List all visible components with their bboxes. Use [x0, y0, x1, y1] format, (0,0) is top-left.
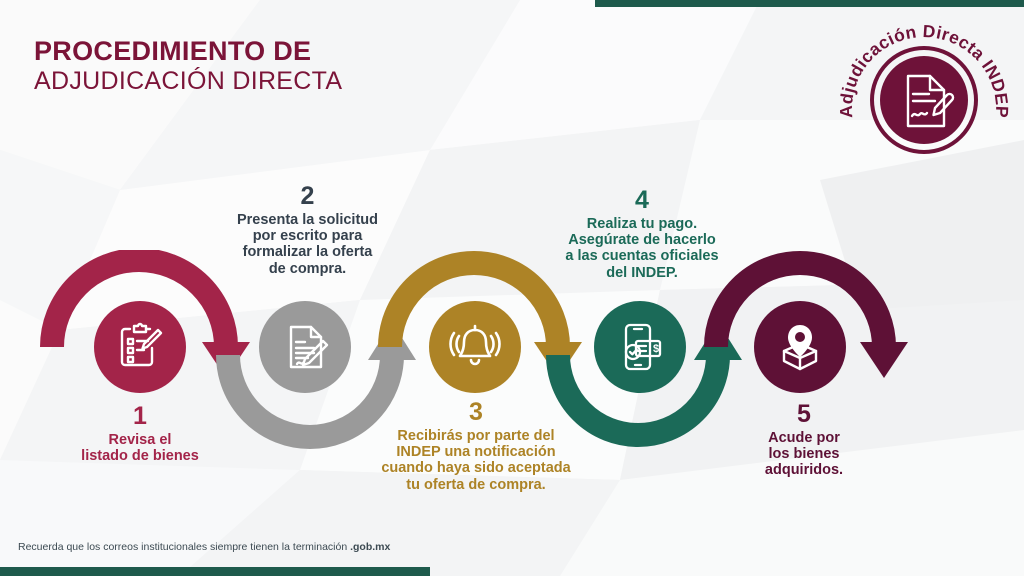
step-5-number: 5 [700, 400, 908, 428]
page-title: PROCEDIMIENTO DE ADJUDICACIÓN DIRECTA [34, 38, 342, 94]
step-1-number: 1 [40, 402, 240, 430]
title-line-secondary: ADJUDICACIÓN DIRECTA [34, 69, 342, 94]
step-3-caption: 3 Recibirás por parte del INDEP una noti… [340, 398, 612, 493]
title-line-primary: PROCEDIMIENTO DE [34, 38, 342, 65]
step-2-icon-circle[interactable] [259, 301, 351, 393]
infographic-canvas: PROCEDIMIENTO DE ADJUDICACIÓN DIRECTA Ad… [0, 0, 1024, 576]
step-3-icon-circle[interactable] [429, 301, 521, 393]
step-2-number: 2 [195, 182, 420, 210]
footer-note-text: Recuerda que los correos institucionales… [18, 541, 350, 553]
step-3-number: 3 [340, 398, 612, 426]
step-4-caption: 4 Realiza tu pago. Asegúrate de hacerlo … [522, 186, 762, 281]
clipboard-checklist-pencil-icon [114, 321, 166, 373]
step-5-text: Acude por los bienes adquiridos. [700, 430, 908, 479]
adjudicacion-directa-indep-badge: Adjudicación Directa INDEP [838, 22, 1010, 172]
mobile-payment-icon: $ [614, 321, 666, 373]
top-accent-bar [595, 0, 1024, 7]
step-5-icon-circle[interactable] [754, 301, 846, 393]
step-2-caption: 2 Presenta la solicitud por escrito para… [195, 182, 420, 277]
step-4-text: Realiza tu pago. Asegúrate de hacerlo a … [522, 216, 762, 281]
bottom-accent-bar [0, 567, 430, 576]
package-location-pin-icon [774, 321, 826, 373]
step-2-text: Presenta la solicitud por escrito para f… [195, 212, 420, 277]
step-4-icon-circle[interactable]: $ [594, 301, 686, 393]
svg-text:$: $ [653, 343, 659, 355]
step-1-text: Revisa el listado de bienes [40, 432, 240, 464]
notification-bell-icon [448, 320, 502, 374]
footer-note-domain: .gob.mx [350, 541, 390, 553]
step-4-number: 4 [522, 186, 762, 214]
step-1-caption: 1 Revisa el listado de bienes [40, 402, 240, 464]
step-3-text: Recibirás por parte del INDEP una notifi… [340, 428, 612, 493]
document-pen-icon [279, 321, 331, 373]
step-5-caption: 5 Acude por los bienes adquiridos. [700, 400, 908, 479]
footer-note: Recuerda que los correos institucionales… [18, 541, 390, 553]
step-1-icon-circle[interactable] [94, 301, 186, 393]
